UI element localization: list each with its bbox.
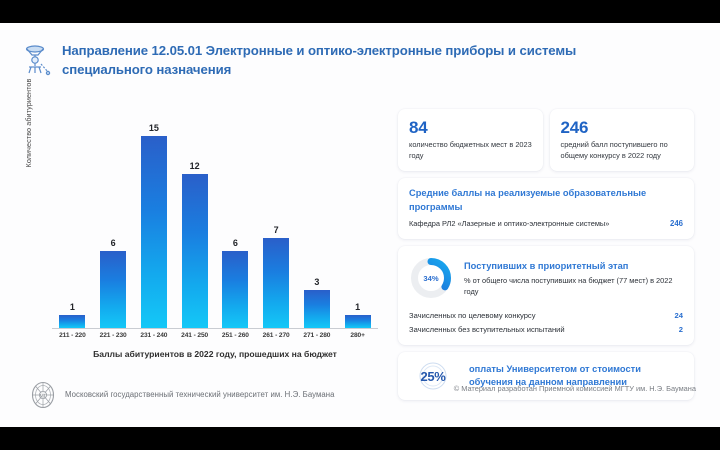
chart-x-tick-labels: 211 - 220 221 - 230 231 - 240 241 - 250 … bbox=[52, 332, 378, 339]
discount-percent: 25% bbox=[420, 369, 445, 384]
chart-y-axis-label: Количество абитуриентов bbox=[24, 63, 33, 183]
bar-rect bbox=[100, 251, 126, 328]
bar-column[interactable]: 7 bbox=[256, 123, 296, 328]
program-row: Кафедра РЛ2 «Лазерные и оптико-электронн… bbox=[409, 218, 683, 229]
bar-column[interactable]: 1 bbox=[52, 123, 92, 328]
bar-column[interactable]: 6 bbox=[93, 123, 133, 328]
chart-x-axis-label: Баллы абитуриентов в 2022 году, прошедши… bbox=[52, 349, 378, 359]
bar-value-label: 6 bbox=[233, 238, 238, 248]
x-tick-label: 231 - 240 bbox=[134, 332, 174, 339]
footer-copyright: © Материал разработан Приемной комиссией… bbox=[454, 383, 696, 395]
bauman-emblem-icon: МГ bbox=[30, 381, 56, 409]
budget-places-number: 84 bbox=[409, 118, 533, 137]
bar-column[interactable]: 6 bbox=[215, 123, 255, 328]
x-tick-label: 241 - 250 bbox=[175, 332, 215, 339]
x-tick-label: 271 - 280 bbox=[297, 332, 337, 339]
programs-title: Средние баллы на реализуемые образовател… bbox=[409, 187, 683, 214]
bar-value-label: 7 bbox=[274, 225, 279, 235]
footer-university-block: МГ Московский государственный технически… bbox=[30, 381, 335, 409]
list-item: Зачисленных по целевому конкурсу 24 bbox=[409, 308, 683, 322]
page-title: Направление 12.05.01 Электронные и оптик… bbox=[62, 41, 622, 79]
bar-column[interactable]: 3 bbox=[297, 123, 337, 328]
donut-chart: 34% bbox=[409, 256, 453, 300]
svg-text:МГ: МГ bbox=[39, 395, 46, 400]
bar-value-label: 12 bbox=[190, 161, 200, 171]
applicants-bar-chart: Количество абитуриентов 1 6 15 12 6 bbox=[28, 123, 378, 368]
card-education-programs[interactable]: Средние баллы на реализуемые образовател… bbox=[398, 178, 694, 239]
budget-places-caption: количество бюджетных мест в 2023 году bbox=[409, 139, 533, 161]
bar-rect bbox=[141, 136, 167, 328]
x-tick-label: 261 - 270 bbox=[256, 332, 296, 339]
bar-value-label: 15 bbox=[149, 123, 159, 133]
priority-summary: 34% Поступивших в приоритетный этап % от… bbox=[409, 256, 683, 300]
bar-column[interactable]: 15 bbox=[134, 123, 174, 328]
average-score-caption: средний балл поступившего по общему конк… bbox=[561, 139, 685, 161]
bar-value-label: 1 bbox=[70, 302, 75, 312]
bar-column[interactable]: 1 bbox=[338, 123, 378, 328]
slide-canvas: Направление 12.05.01 Электронные и оптик… bbox=[0, 23, 720, 427]
bar-rect bbox=[59, 315, 85, 328]
bar-value-label: 6 bbox=[111, 238, 116, 248]
card-priority-stage[interactable]: 34% Поступивших в приоритетный этап % от… bbox=[398, 246, 694, 345]
list-item: Зачисленных без вступительных испытаний … bbox=[409, 322, 683, 336]
bar-rect bbox=[222, 251, 248, 328]
donut-percent-label: 34% bbox=[409, 256, 453, 300]
x-tick-label: 221 - 230 bbox=[93, 332, 133, 339]
priority-item-label: Зачисленных без вступительных испытаний bbox=[409, 325, 565, 334]
program-score: 246 bbox=[670, 218, 683, 228]
stat-card-row: 84 количество бюджетных мест в 2023 году… bbox=[398, 109, 694, 171]
average-score-number: 246 bbox=[561, 118, 685, 137]
bar-rect bbox=[345, 315, 371, 328]
priority-item-value: 2 bbox=[679, 325, 683, 334]
bar-rect bbox=[304, 290, 330, 328]
x-tick-label: 280+ bbox=[338, 332, 378, 339]
bar-column[interactable]: 12 bbox=[175, 123, 215, 328]
bar-value-label: 1 bbox=[355, 302, 360, 312]
priority-item-label: Зачисленных по целевому конкурсу bbox=[409, 311, 536, 320]
footer-university-name: Московский государственный технический у… bbox=[65, 389, 335, 401]
x-tick-label: 211 - 220 bbox=[52, 332, 92, 339]
stats-card-column: 84 количество бюджетных мест в 2023 году… bbox=[398, 109, 694, 400]
bar-value-label: 3 bbox=[314, 277, 319, 287]
priority-item-value: 24 bbox=[675, 311, 683, 320]
chart-plot-area: 1 6 15 12 6 7 bbox=[52, 123, 378, 328]
priority-text-block: Поступивших в приоритетный этап % от общ… bbox=[464, 260, 683, 297]
priority-breakdown-list: Зачисленных по целевому конкурсу 24 Зачи… bbox=[409, 308, 683, 336]
bar-rect bbox=[182, 174, 208, 328]
priority-title: Поступивших в приоритетный этап bbox=[464, 260, 683, 273]
program-name: Кафедра РЛ2 «Лазерные и оптико-электронн… bbox=[409, 218, 609, 229]
discount-badge: 25% bbox=[409, 361, 457, 391]
slide-header: Направление 12.05.01 Электронные и оптик… bbox=[22, 41, 622, 79]
bar-rect bbox=[263, 238, 289, 328]
card-budget-places[interactable]: 84 количество бюджетных мест в 2023 году bbox=[398, 109, 543, 171]
priority-subtitle: % от общего числа поступивших на бюджет … bbox=[464, 275, 683, 297]
card-average-score[interactable]: 246 средний балл поступившего по общему … bbox=[550, 109, 695, 171]
x-tick-label: 251 - 260 bbox=[215, 332, 255, 339]
chart-x-axis-line bbox=[52, 328, 378, 329]
